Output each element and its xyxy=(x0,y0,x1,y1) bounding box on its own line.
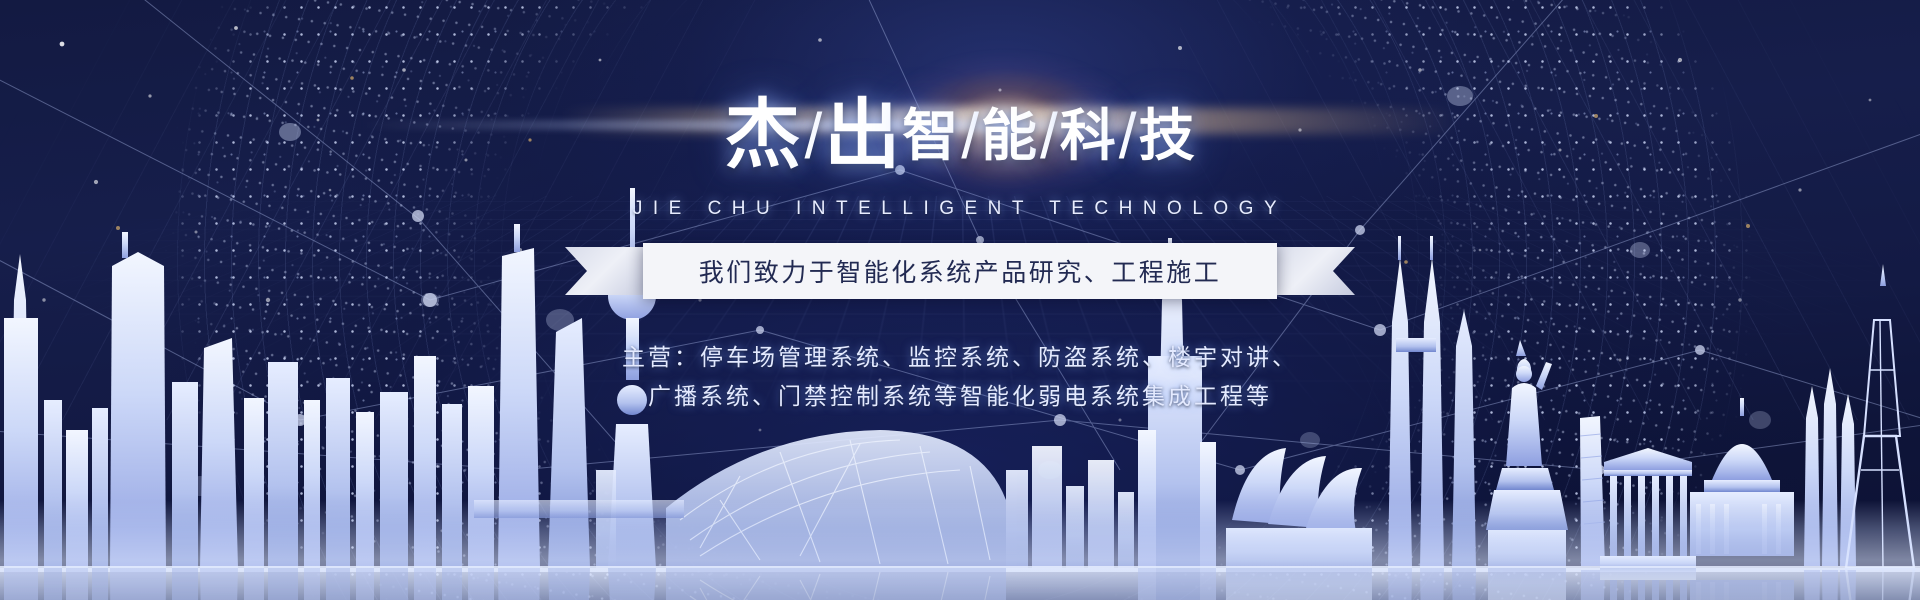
title-slash-3: / xyxy=(1040,99,1058,173)
title-char-5: 科 xyxy=(1060,108,1117,164)
page-title: 杰 / 出 智 / 能 / 科 / 技 xyxy=(0,88,1920,184)
title-slash-2: / xyxy=(961,99,979,173)
ribbon-wing-right xyxy=(1269,247,1355,295)
hero-banner: 杰 / 出 智 / 能 / 科 / 技 JIE CHU INTELLIGENT … xyxy=(0,0,1920,600)
description-line-1: 主营：停车场管理系统、监控系统、防盗系统、楼宇对讲、 xyxy=(0,338,1920,377)
title-char-3: 智 xyxy=(902,108,959,164)
ribbon-wing-left xyxy=(565,247,651,295)
slogan-ribbon: 我们致力于智能化系统产品研究、工程施工 xyxy=(0,243,1920,299)
slogan-text: 我们致力于智能化系统产品研究、工程施工 xyxy=(699,253,1222,289)
ribbon-center-panel: 我们致力于智能化系统产品研究、工程施工 xyxy=(643,243,1277,299)
title-slash-1: / xyxy=(804,99,822,173)
title-char-6: 技 xyxy=(1139,108,1196,164)
title-char-2: 出 xyxy=(824,98,902,174)
page-subtitle: JIE CHU INTELLIGENT TECHNOLOGY xyxy=(0,198,1920,220)
title-slash-4: / xyxy=(1119,99,1137,173)
title-char-1: 杰 xyxy=(724,98,802,174)
description-line-2: 广播系统、门禁控制系统等智能化弱电系统集成工程等 xyxy=(0,377,1920,416)
title-char-4: 能 xyxy=(981,108,1038,164)
business-description: 主营：停车场管理系统、监控系统、防盗系统、楼宇对讲、 广播系统、门禁控制系统等智… xyxy=(0,338,1920,416)
